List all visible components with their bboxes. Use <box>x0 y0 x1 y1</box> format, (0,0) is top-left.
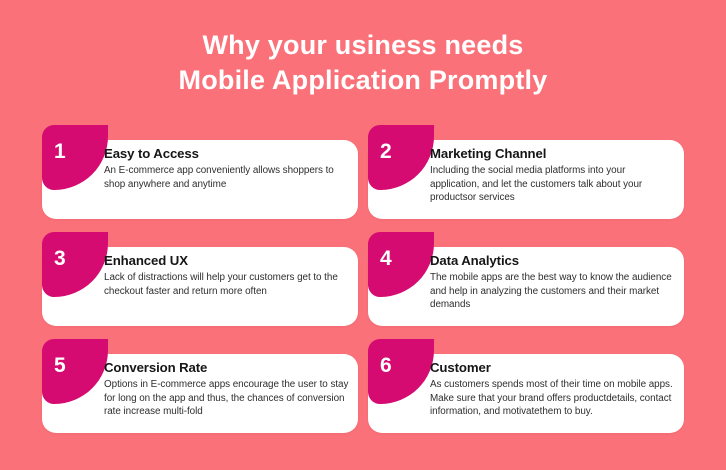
benefit-card-2: 2 Marketing Channel Including the social… <box>368 124 684 231</box>
infographic-poster: Why your usiness needs Mobile Applicatio… <box>0 0 726 470</box>
card-description: As customers spends most of their time o… <box>430 378 676 419</box>
card-description: Lack of distractions will help your cust… <box>104 271 350 298</box>
card-description: Options in E-commerce apps encourage the… <box>104 378 350 419</box>
card-body: Data Analytics The mobile apps are the b… <box>430 253 676 312</box>
benefit-card-5: 5 Conversion Rate Options in E-commerce … <box>42 338 358 445</box>
benefit-card-grid: 1 Easy to Access An E-commerce app conve… <box>42 124 684 445</box>
card-title: Enhanced UX <box>104 253 350 269</box>
card-title: Marketing Channel <box>430 146 676 162</box>
badge-number: 4 <box>380 248 392 269</box>
badge-number: 6 <box>380 355 392 376</box>
card-body: Easy to Access An E-commerce app conveni… <box>104 146 350 191</box>
card-title: Conversion Rate <box>104 360 350 376</box>
card-body: Customer As customers spends most of the… <box>430 360 676 419</box>
card-body: Conversion Rate Options in E-commerce ap… <box>104 360 350 419</box>
card-body: Marketing Channel Including the social m… <box>430 146 676 205</box>
card-description: Including the social media platforms int… <box>430 164 676 205</box>
card-description: An E-commerce app conveniently allows sh… <box>104 164 350 191</box>
benefit-card-3: 3 Enhanced UX Lack of distractions will … <box>42 231 358 338</box>
badge-number: 3 <box>54 248 66 269</box>
card-body: Enhanced UX Lack of distractions will he… <box>104 253 350 298</box>
benefit-card-4: 4 Data Analytics The mobile apps are the… <box>368 231 684 338</box>
benefit-card-6: 6 Customer As customers spends most of t… <box>368 338 684 445</box>
card-title: Customer <box>430 360 676 376</box>
page-title-line-2: Mobile Application Promptly <box>0 63 726 98</box>
card-title: Data Analytics <box>430 253 676 269</box>
badge-number: 2 <box>380 141 392 162</box>
card-description: The mobile apps are the best way to know… <box>430 271 676 312</box>
page-title-line-1: Why your usiness needs <box>0 28 726 63</box>
benefit-card-1: 1 Easy to Access An E-commerce app conve… <box>42 124 358 231</box>
badge-number: 5 <box>54 355 66 376</box>
badge-number: 1 <box>54 141 66 162</box>
page-title: Why your usiness needs Mobile Applicatio… <box>0 28 726 97</box>
card-title: Easy to Access <box>104 146 350 162</box>
